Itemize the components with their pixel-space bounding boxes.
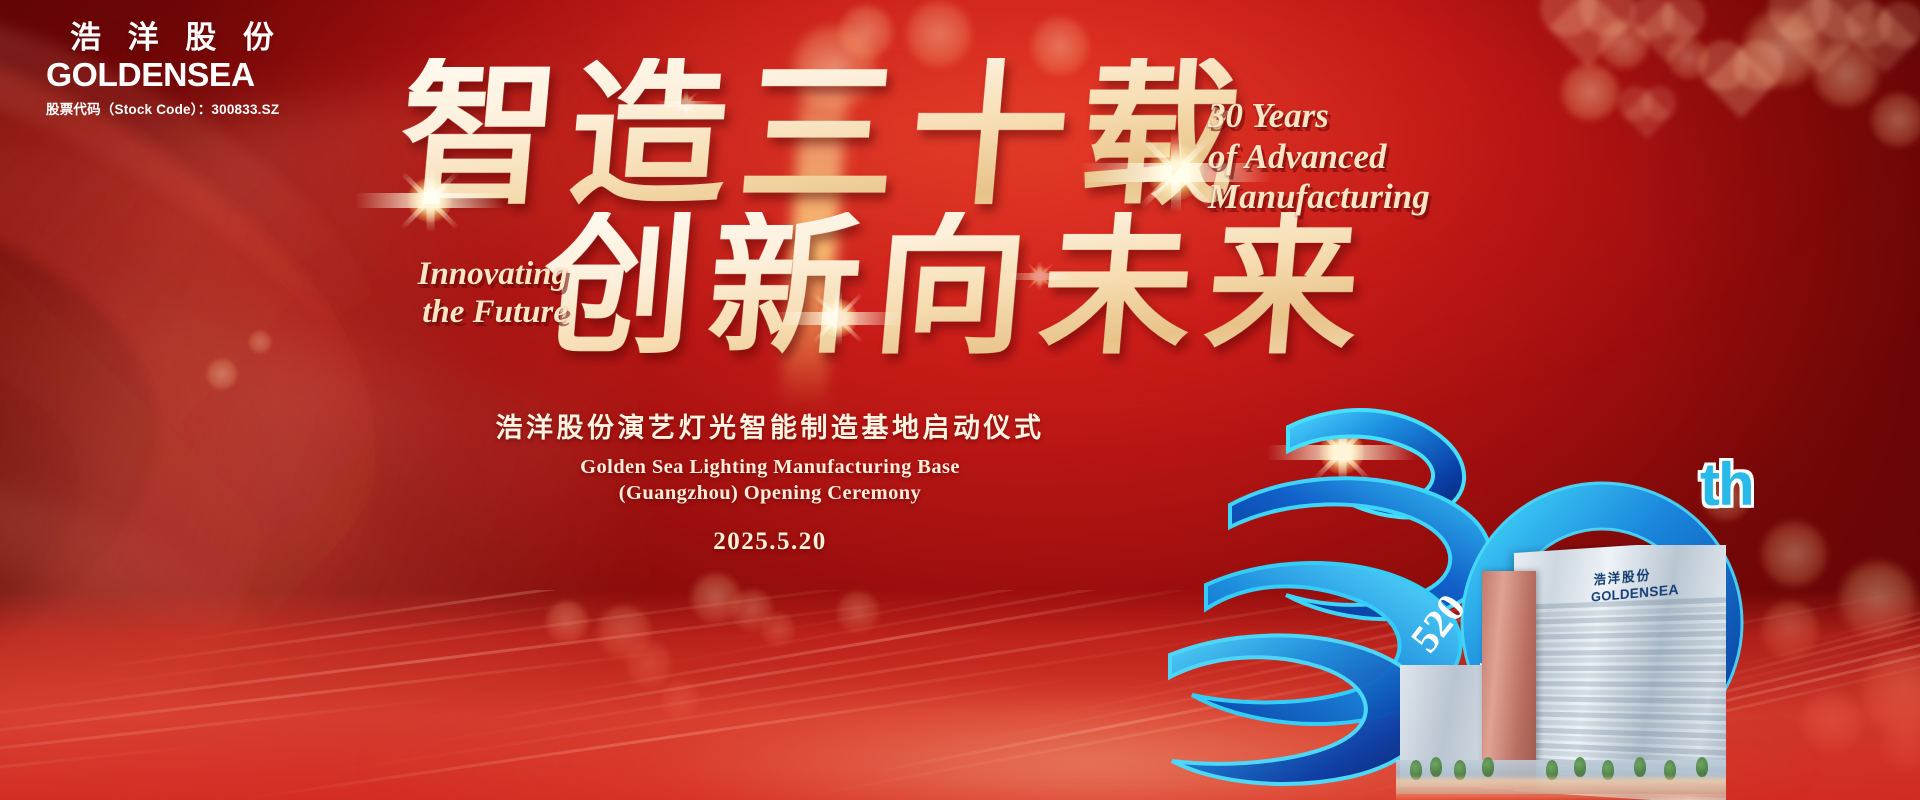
building-tree (1634, 757, 1646, 777)
building-window-row (1514, 656, 1726, 663)
subtitle-english: Golden Sea Lighting Manufacturing Base (… (470, 454, 1070, 506)
building-window-row (1514, 689, 1726, 697)
subtitle-chinese: 浩洋股份演艺灯光智能制造基地启动仪式 (470, 406, 1070, 445)
subtitle-english-line2: (Guangzhou) Opening Ceremony (470, 480, 1070, 506)
building-window-row (1514, 681, 1726, 688)
event-date: 2025.5.20 (470, 528, 1070, 556)
building-tree (1454, 760, 1466, 780)
building-window-row (1514, 665, 1726, 671)
headquarters-building-image: 浩洋股份 GOLDENSEA (1396, 545, 1726, 800)
building-road-glow (1396, 778, 1726, 800)
english-tagline-right-line3: Manufacturing (1208, 177, 1430, 218)
building-tree (1410, 760, 1422, 780)
building-window-row (1514, 639, 1726, 648)
english-tagline-right-line1: 30 Years (1208, 96, 1430, 137)
building-window-row (1514, 648, 1726, 656)
english-tagline-left-line1: Innovating (300, 255, 568, 293)
building-window-row (1514, 631, 1726, 641)
english-tagline-right-line2: of Advanced (1208, 137, 1430, 178)
promotional-banner: 浩 洋 股 份 GOLDENSEA 股票代码（Stock Code）：30083… (0, 0, 1920, 800)
subtitle-block: 浩洋股份演艺灯光智能制造基地启动仪式 Golden Sea Lighting M… (470, 406, 1070, 556)
english-tagline-right: 30 Years of Advanced Manufacturing (1208, 96, 1430, 218)
headline-line-2: 创新向未来 (536, 212, 1379, 364)
headline-line-1: 智造三十载 (393, 58, 1257, 216)
english-tagline-left-line2: the Future (300, 293, 568, 331)
building-tree (1602, 760, 1614, 780)
subtitle-english-line1: Golden Sea Lighting Manufacturing Base (470, 454, 1070, 480)
ordinal-suffix-th: th (1700, 455, 1753, 515)
building-window-row (1514, 673, 1726, 679)
building-tree (1430, 757, 1442, 777)
building-tree (1664, 760, 1676, 780)
building-tree (1574, 757, 1586, 777)
building-tree (1696, 757, 1708, 777)
building-tree (1482, 757, 1494, 777)
building-tree (1546, 760, 1558, 780)
english-tagline-left: Innovating the Future (300, 255, 568, 332)
building-center-column (1482, 571, 1536, 789)
